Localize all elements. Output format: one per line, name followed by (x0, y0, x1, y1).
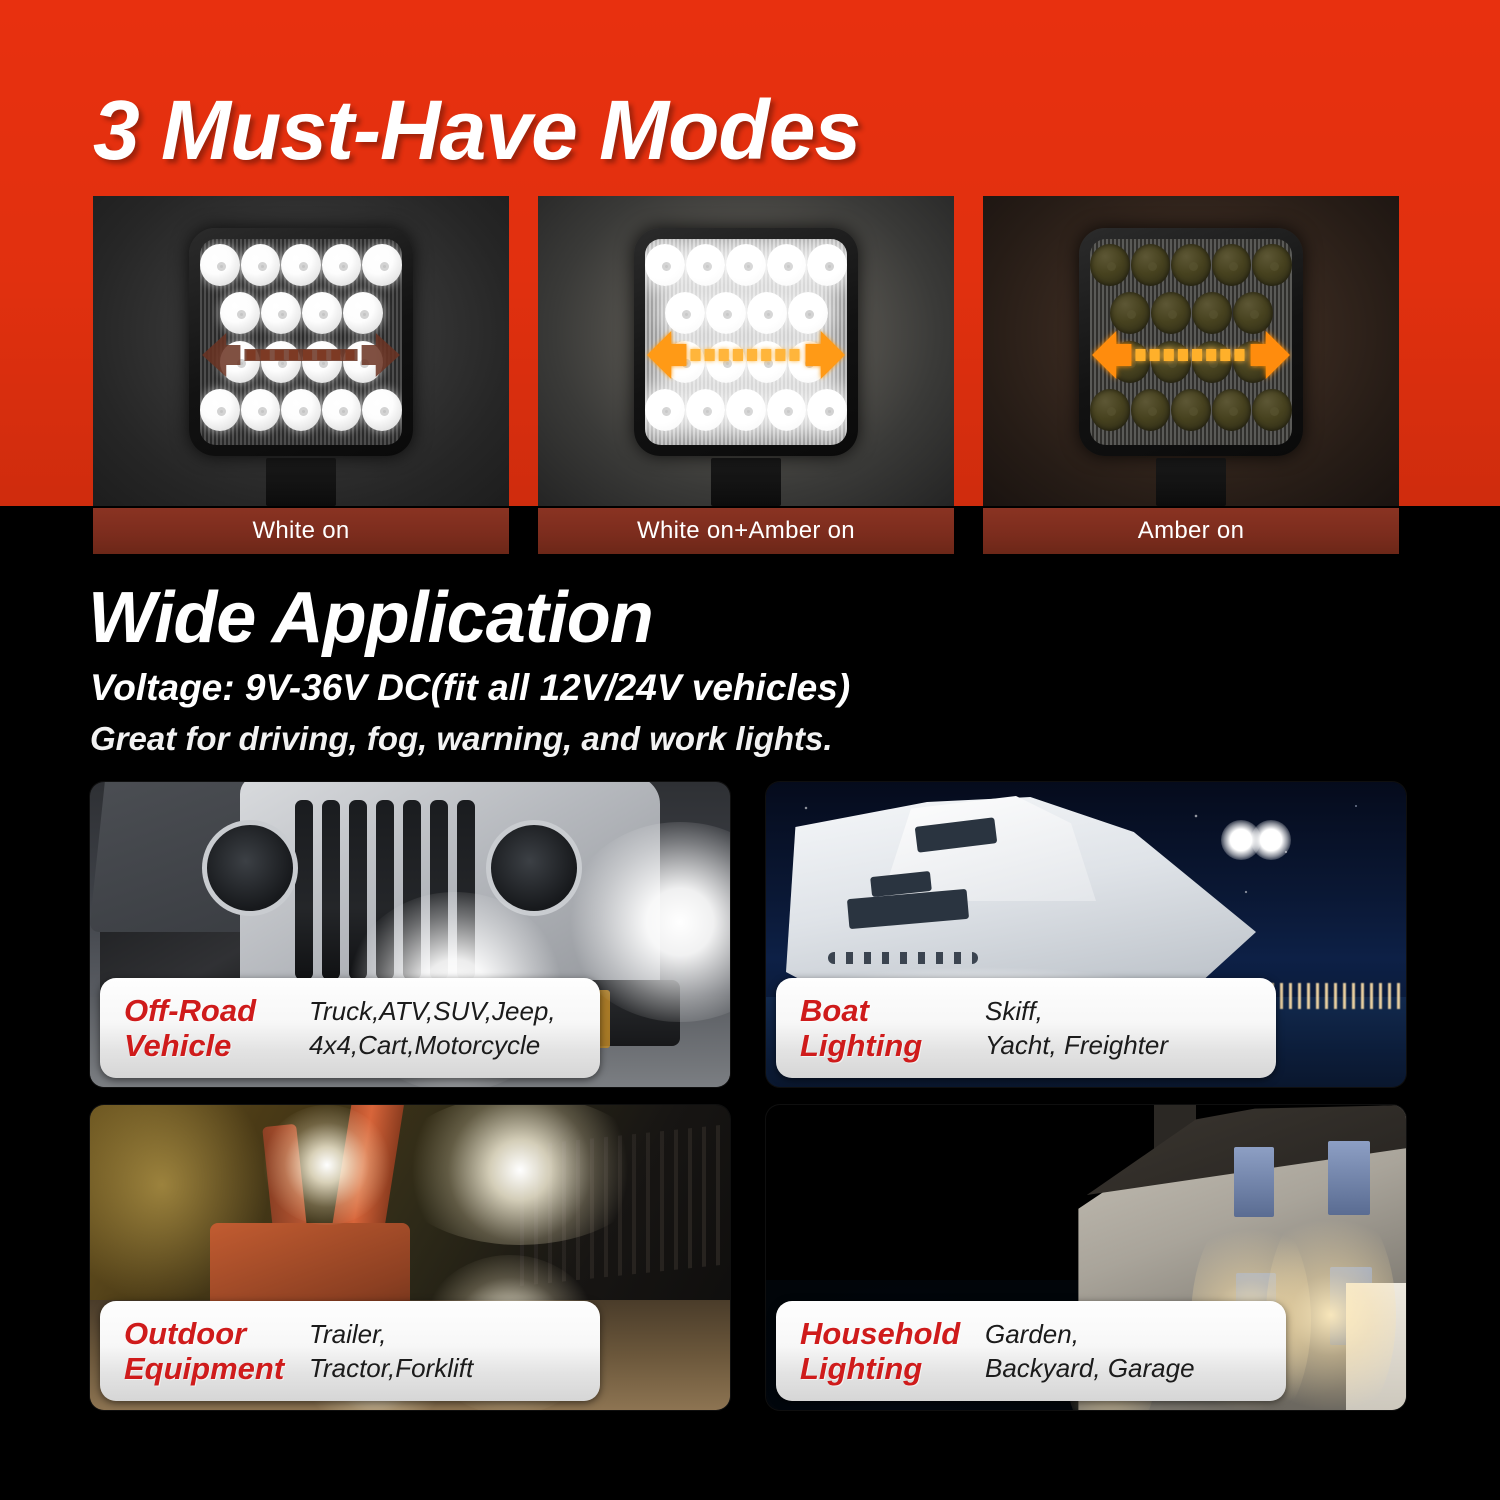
lamp-lens (645, 239, 847, 445)
lamp-lens (200, 239, 402, 445)
mount-bracket (266, 458, 336, 506)
led-lamp (634, 228, 858, 456)
app-label-card: Household Lighting Garden, Backyard, Gar… (776, 1301, 1286, 1401)
mode-captions-row: White on White on+Amber on Amber on (93, 508, 1408, 554)
mount-bracket (711, 458, 781, 506)
infographic-page: 3 Must-Have Modes (0, 0, 1500, 1500)
application-card-off-road-vehicle: Off-Road Vehicle Truck,ATV,SUV,Jeep, 4x4… (90, 782, 730, 1087)
mode-panel-amber-on (983, 196, 1399, 506)
app-label-title: Outdoor Equipment (124, 1316, 309, 1386)
mount-bracket (1156, 458, 1226, 506)
wide-application-heading: Wide Application (88, 578, 653, 658)
app-label-title: Household Lighting (800, 1316, 985, 1386)
mode-caption-amber-on: Amber on (983, 508, 1399, 554)
led-row (200, 244, 402, 286)
application-card-household-lighting: Household Lighting Garden, Backyard, Gar… (766, 1105, 1406, 1410)
page-title: 3 Must-Have Modes (93, 78, 1093, 183)
app-label-desc: Truck,ATV,SUV,Jeep, 4x4,Cart,Motorcycle (309, 994, 556, 1062)
app-label-title: Boat Lighting (800, 993, 985, 1063)
app-label-card: Outdoor Equipment Trailer, Tractor,Forkl… (100, 1301, 600, 1401)
double-arrow-strip-icon (200, 327, 402, 383)
mode-caption-white-on: White on (93, 508, 509, 554)
double-arrow-strip-icon (1090, 327, 1292, 383)
mode-panel-white-amber-on (538, 196, 954, 506)
application-cards-grid: Off-Road Vehicle Truck,ATV,SUV,Jeep, 4x4… (90, 782, 1410, 1422)
app-label-desc: Skiff, Yacht, Freighter (985, 994, 1168, 1062)
lamp-lens (1090, 239, 1292, 445)
led-row (1090, 244, 1292, 286)
double-arrow-strip-icon (645, 327, 847, 383)
app-label-desc: Trailer, Tractor,Forklift (309, 1317, 473, 1385)
mode-panel-white-on (93, 196, 509, 506)
led-row (200, 389, 402, 431)
app-label-title: Off-Road Vehicle (124, 993, 309, 1063)
application-card-boat-lighting: Boat Lighting Skiff, Yacht, Freighter (766, 782, 1406, 1087)
app-label-desc: Garden, Backyard, Garage (985, 1317, 1195, 1385)
app-label-card: Off-Road Vehicle Truck,ATV,SUV,Jeep, 4x4… (100, 978, 600, 1078)
led-row (645, 244, 847, 286)
mode-panels-row (93, 196, 1408, 506)
led-lamp (189, 228, 413, 456)
usage-subtitle: Great for driving, fog, warning, and wor… (90, 717, 833, 761)
mode-caption-white-amber-on: White on+Amber on (538, 508, 954, 554)
led-row (1090, 389, 1292, 431)
app-label-card: Boat Lighting Skiff, Yacht, Freighter (776, 978, 1276, 1078)
led-row (645, 389, 847, 431)
led-lamp (1079, 228, 1303, 456)
voltage-spec-line: Voltage: 9V-36V DC(fit all 12V/24V vehic… (90, 665, 850, 711)
application-card-outdoor-equipment: Outdoor Equipment Trailer, Tractor,Forkl… (90, 1105, 730, 1410)
